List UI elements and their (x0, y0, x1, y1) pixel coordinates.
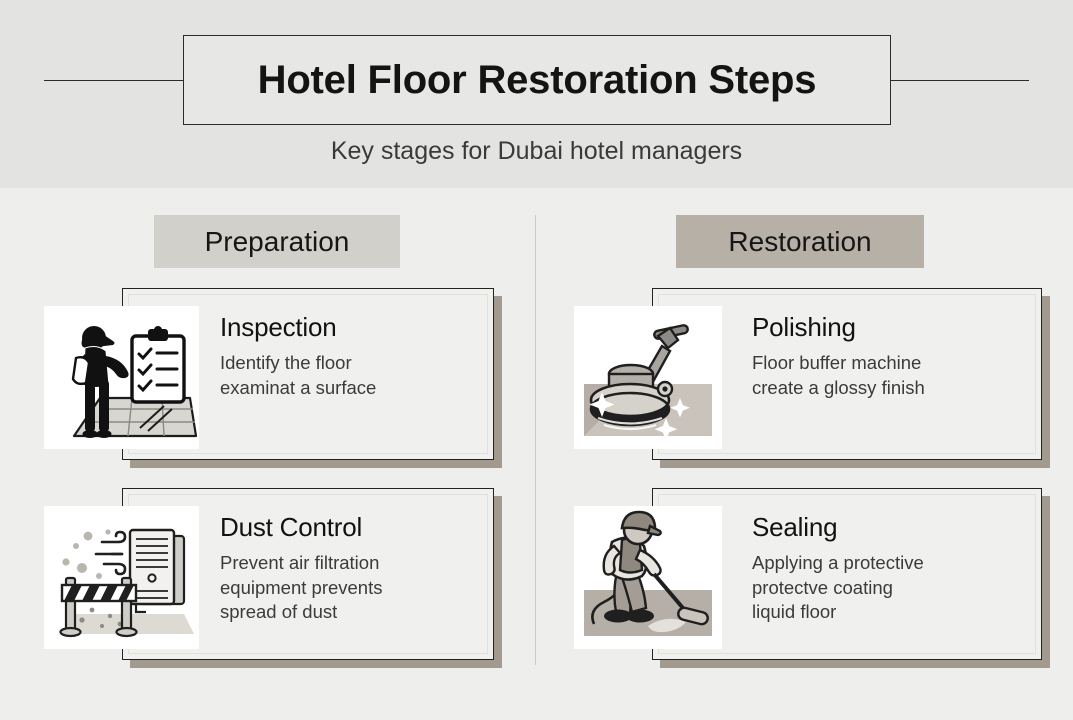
card-title: Inspection (220, 314, 488, 341)
section-heading-preparation: Preparation (154, 215, 400, 268)
card-text: Dust Control Prevent air filtration equi… (220, 514, 488, 625)
card-title: Dust Control (220, 514, 488, 541)
card-text: Polishing Floor buffer machine create a … (752, 314, 1032, 400)
floor-buffer-machine-icon (574, 306, 722, 449)
card-title: Sealing (752, 514, 1032, 541)
card-text: Sealing Applying a protective protectve … (752, 514, 1032, 625)
card-description: Applying a protective protectve coating … (752, 551, 1032, 625)
card-description: Identify the floor examinat a surface (220, 351, 488, 400)
card-title: Polishing (752, 314, 1032, 341)
barrier-air-filter-dust-icon (44, 506, 199, 649)
title-rule-left (44, 80, 184, 81)
worker-applying-sealant-icon (574, 506, 722, 649)
card-description: Floor buffer machine create a glossy fin… (752, 351, 1032, 400)
column-divider (535, 215, 536, 665)
title-rule-right (890, 80, 1029, 81)
title-box: Hotel Floor Restoration Steps (183, 35, 891, 125)
content-board: Preparation (0, 188, 1073, 720)
section-heading-restoration: Restoration (676, 215, 924, 268)
inspector-with-clipboard-icon (44, 306, 199, 449)
header-band: Hotel Floor Restoration Steps Key stages… (0, 0, 1073, 188)
page-title: Hotel Floor Restoration Steps (258, 58, 817, 103)
card-text: Inspection Identify the floor examinat a… (220, 314, 488, 400)
card-description: Prevent air filtration equipment prevent… (220, 551, 488, 625)
page-subtitle: Key stages for Dubai hotel managers (0, 137, 1073, 166)
